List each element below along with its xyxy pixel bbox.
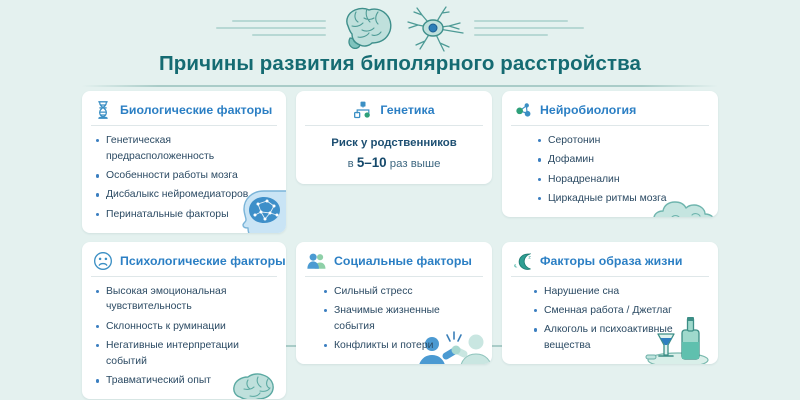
card-genetics-title: Генетика xyxy=(380,103,434,117)
molecule-icon xyxy=(513,100,533,120)
list-item: Значимые жизненные события xyxy=(321,303,481,335)
page-title: Причины развития биполярного расстройств… xyxy=(0,52,800,76)
genetics-suffix: раз выше xyxy=(390,158,441,170)
cards-row-top: Биологические факторы Генетическая предр… xyxy=(82,91,718,233)
family-tree-icon xyxy=(353,100,373,120)
list-item: Дисбалыкс нейромедиаторов xyxy=(93,187,275,203)
cards-grid: Биологические факторы Генетическая предр… xyxy=(82,91,718,399)
card-biological[interactable]: Биологические факторы Генетическая предр… xyxy=(82,91,286,233)
list-item: Сильный стресс xyxy=(321,284,481,300)
card-genetics[interactable]: Генетика Риск у родственников в 5–10 раз… xyxy=(296,91,492,184)
card-lifestyle[interactable]: z Факторы образа жизни Нарушение сна Сме… xyxy=(502,242,718,364)
list-item: Нарушение сна xyxy=(531,284,681,300)
decorative-lines-right xyxy=(474,20,594,36)
card-psychological-rule xyxy=(91,276,277,277)
card-neurobiology-header: Нейробиология xyxy=(513,100,707,125)
list-item: Конфликты и потери xyxy=(321,338,481,354)
decorative-lines-left xyxy=(206,20,326,36)
cards-row-bottom: Психологические факторы Высокая эмоциона… xyxy=(82,242,718,399)
list-item: Негативные интерпретации событий xyxy=(93,338,275,370)
genetics-statement-line1: Риск у родственников xyxy=(307,134,481,152)
brain-illustration xyxy=(334,4,398,52)
list-item: Травматический опыт xyxy=(93,373,275,389)
genetics-statement-line2: в 5–10 раз выше xyxy=(307,152,481,174)
genetics-prefix: в xyxy=(348,158,354,170)
card-lifestyle-title: Факторы образа жизни xyxy=(540,254,682,268)
list-item: Высокая эмоциональная чувствительность xyxy=(93,284,275,316)
card-psychological-header: Психологические факторы xyxy=(93,251,275,276)
card-biological-title: Биологические факторы xyxy=(120,103,272,117)
svg-text:z: z xyxy=(528,255,531,260)
card-social-rule xyxy=(305,276,483,277)
card-genetics-header: Генетика xyxy=(307,100,481,125)
card-social[interactable]: Социальные факторы Сильный стресс Значим… xyxy=(296,242,492,364)
card-lifestyle-rule xyxy=(511,276,709,277)
card-biological-rule xyxy=(91,125,277,126)
card-social-list: Сильный стресс Значимые жизненные событи… xyxy=(307,284,481,354)
card-psychological[interactable]: Психологические факторы Высокая эмоциона… xyxy=(82,242,286,399)
list-item: Перинатальные факторы xyxy=(93,207,275,223)
two-people-icon xyxy=(307,251,327,271)
card-biological-header: Биологические факторы xyxy=(93,100,275,125)
top-divider xyxy=(82,85,718,87)
card-neurobiology-rule xyxy=(511,125,709,126)
card-psychological-list: Высокая эмоциональная чувствительность С… xyxy=(93,284,275,389)
hero-illustrations xyxy=(326,3,474,53)
hero-artwork xyxy=(0,4,800,52)
list-item: Алкоголь и психоактивные вещества xyxy=(531,322,681,354)
card-neurobiology-title: Нейробиология xyxy=(540,103,636,117)
card-genetics-rule xyxy=(305,125,483,126)
card-lifestyle-header: z Факторы образа жизни xyxy=(513,251,707,276)
list-item: Особенности работы мозга xyxy=(93,168,275,184)
list-item: Дофамин xyxy=(535,152,707,168)
genetics-value: 5–10 xyxy=(357,155,387,170)
neuron-illustration xyxy=(400,3,466,53)
card-genetics-statement: Риск у родственников в 5–10 раз выше xyxy=(307,133,481,174)
card-neurobiology[interactable]: Нейробиология Серотонин Дофамин Норадрен… xyxy=(502,91,718,217)
card-biological-list: Генетическая предрасположенность Особенн… xyxy=(93,133,275,223)
card-psychological-title: Психологические факторы xyxy=(120,254,286,268)
card-neurobiology-list: Серотонин Дофамин Норадреналин Циркадные… xyxy=(513,133,707,207)
card-lifestyle-list: Нарушение сна Сменная работа / Джетлаг А… xyxy=(513,284,681,354)
page-header: Причины развития биполярного расстройств… xyxy=(0,0,800,86)
crescent-moon-icon: z xyxy=(513,251,533,271)
card-social-title: Социальные факторы xyxy=(334,254,472,268)
list-item: Серотонин xyxy=(535,133,707,149)
list-item: Генетическая предрасположенность xyxy=(93,133,275,165)
dna-helix-icon xyxy=(93,100,113,120)
list-item: Сменная работа / Джетлаг xyxy=(531,303,681,319)
list-item: Склонность к руминации xyxy=(93,319,275,335)
list-item: Норадреналин xyxy=(535,172,707,188)
list-item: Циркадные ритмы мозга xyxy=(535,191,707,207)
card-social-header: Социальные факторы xyxy=(307,251,481,276)
sad-face-icon xyxy=(93,251,113,271)
